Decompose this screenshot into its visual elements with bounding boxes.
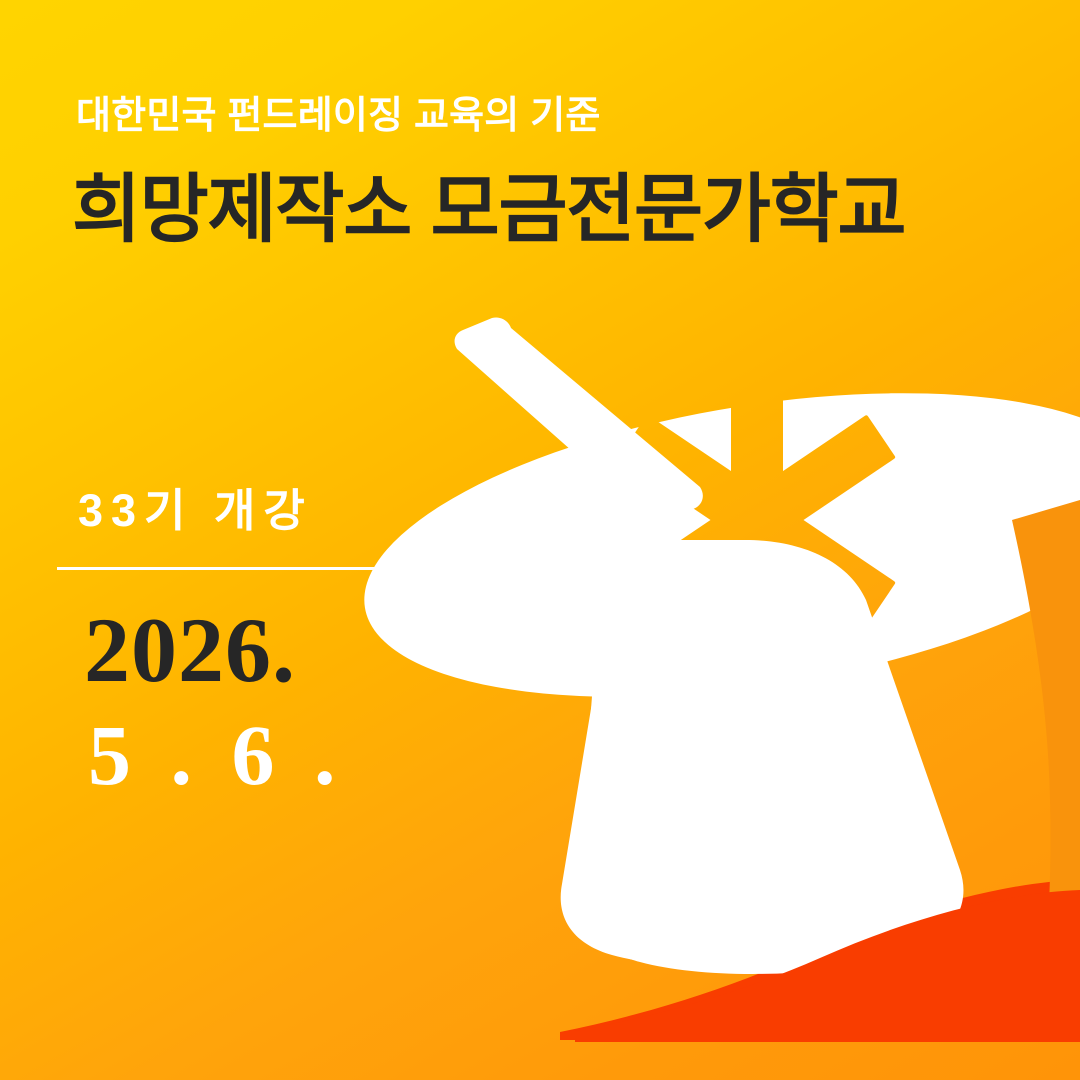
poster-artwork xyxy=(0,0,1080,1080)
hat-brim xyxy=(0,0,1080,1080)
cohort-label: 33기 개강 xyxy=(78,486,313,536)
poster-title: 희망제작소 모금전문가학교 xyxy=(72,166,905,252)
date-day: 5 . 6 . xyxy=(88,712,345,798)
divider-rule xyxy=(57,567,387,570)
promo-poster: 대한민국 펀드레이징 교육의 기준 희망제작소 모금전문가학교 33기 개강 2… xyxy=(0,0,1080,1080)
date-year: 2026. xyxy=(84,604,296,696)
poster-tagline: 대한민국 펀드레이징 교육의 기준 xyxy=(76,96,601,138)
